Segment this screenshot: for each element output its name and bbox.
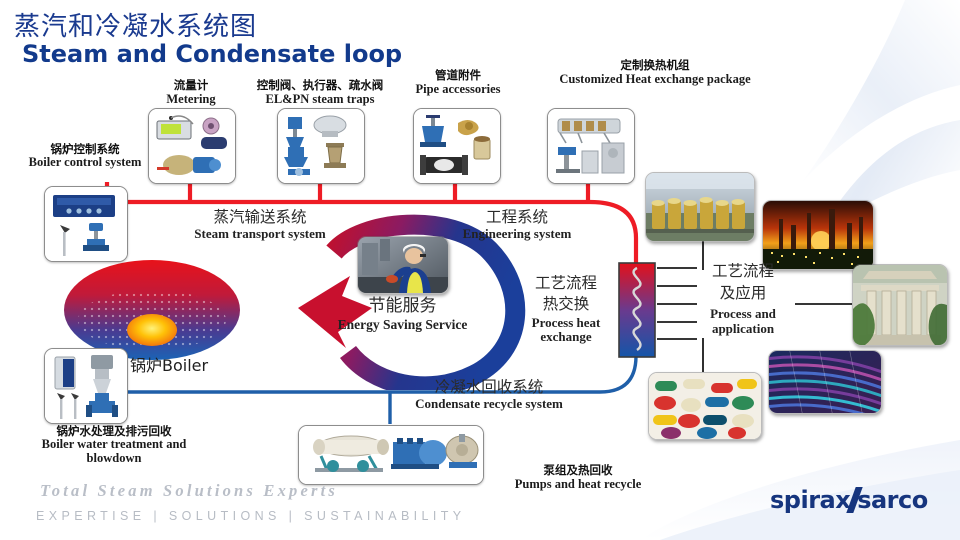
engineer-photo: [357, 236, 449, 294]
label-pumps-cn: 泵组及热回收: [488, 464, 668, 477]
label-heat-exchange-package-en: Customized Heat exchange package: [527, 72, 783, 86]
label-steam-traps-en: EL&PN steam traps: [239, 92, 401, 106]
thumb-metering[interactable]: [148, 108, 236, 184]
label-heat-exchange-package-cn: 定制换热机组: [527, 59, 783, 72]
thumb-boiler-water-treatment[interactable]: [44, 348, 128, 424]
thumb-pumps-heat-recycle[interactable]: [298, 425, 484, 485]
label-condensate-recycle-cn: 冷凝水回收系统: [399, 379, 579, 397]
photo-refinery[interactable]: [762, 200, 874, 270]
label-pipe-accessories-en: Pipe accessories: [396, 82, 520, 96]
label-pipe-accessories-cn: 管道附件: [396, 69, 520, 82]
thumb-boiler-control[interactable]: [44, 186, 128, 262]
boiler-graphic: [62, 258, 242, 362]
label-metering-cn: 流量计: [131, 79, 251, 92]
label-boiler-text: 锅炉Boiler: [130, 356, 208, 375]
label-engineering-system-en: Engineering system: [437, 227, 597, 242]
logo-word-sarco: sarco: [857, 486, 928, 514]
page-title-english: Steam and Condensate loop: [22, 40, 402, 68]
label-metering: 流量计 Metering: [131, 79, 251, 107]
label-heat-exchange-package: 定制换热机组 Customized Heat exchange package: [527, 59, 783, 87]
label-process-application-en-2: application: [688, 322, 798, 337]
thumb-heat-exchange-package[interactable]: [547, 108, 635, 184]
label-process-application: 工艺流程 及应用 Process and application: [688, 263, 798, 337]
label-pumps-en: Pumps and heat recycle: [488, 477, 668, 491]
label-condensate-recycle-en: Condensate recycle system: [399, 397, 579, 412]
label-energy-saving-cn: 节能服务: [310, 297, 495, 317]
label-steam-transport-cn: 蒸汽输送系统: [165, 209, 355, 227]
label-boiler-water-treatment: 锅炉水处理及排污回收 Boiler water treatment and bl…: [14, 425, 214, 466]
footer-pillars: EXPERTISE | SOLUTIONS | SUSTAINABILITY: [36, 509, 466, 523]
spirax-sarco-logo: spiraxsarco: [770, 486, 928, 514]
label-process-application-cn-1: 工艺流程: [688, 263, 798, 281]
label-process-application-cn-2: 及应用: [688, 285, 798, 303]
heat-exchanger-graphic: [618, 262, 656, 358]
footer-tagline: Total Steam Solutions Experts: [40, 481, 338, 501]
label-boiler-water-treatment-en: Boiler water treatment and blowdown: [14, 438, 214, 466]
label-process-heat-exchange-cn-1: 工艺流程: [515, 275, 617, 293]
photo-pharmaceutical[interactable]: [648, 372, 762, 440]
label-pumps: 泵组及热回收 Pumps and heat recycle: [488, 464, 668, 492]
thumb-steam-traps[interactable]: [277, 108, 365, 184]
page-title-chinese: 蒸汽和冷凝水系统图: [14, 6, 257, 43]
label-metering-en: Metering: [131, 92, 251, 106]
label-process-heat-exchange: 工艺流程 热交换 Process heat exchange: [515, 275, 617, 344]
label-engineering-system: 工程系统 Engineering system: [437, 209, 597, 242]
label-condensate-recycle: 冷凝水回收系统 Condensate recycle system: [399, 379, 579, 412]
label-steam-transport: 蒸汽输送系统 Steam transport system: [165, 209, 355, 242]
label-pipe-accessories: 管道附件 Pipe accessories: [396, 69, 520, 97]
label-process-application-en-1: Process and: [688, 307, 798, 322]
photo-building[interactable]: [852, 264, 948, 346]
label-process-heat-exchange-en: Process heat exchange: [515, 316, 617, 345]
label-boiler-control: 锅炉控制系统 Boiler control system: [16, 143, 154, 169]
thumb-pipe-accessories[interactable]: [413, 108, 501, 184]
logo-word-spirax: spirax: [770, 486, 850, 514]
label-energy-saving-en: Energy Saving Service: [310, 317, 495, 333]
photo-textile[interactable]: [768, 350, 882, 414]
label-process-heat-exchange-cn-2: 热交换: [515, 296, 617, 314]
label-steam-transport-en: Steam transport system: [165, 227, 355, 242]
label-energy-saving: 节能服务 Energy Saving Service: [310, 297, 495, 332]
slide-canvas: 蒸汽和冷凝水系统图 Steam and Condensate loop: [0, 0, 960, 540]
label-steam-traps-cn: 控制阀、执行器、疏水阀: [239, 79, 401, 92]
label-engineering-system-cn: 工程系统: [437, 209, 597, 227]
label-boiler: 锅炉Boiler: [130, 352, 208, 376]
label-boiler-control-en: Boiler control system: [16, 156, 154, 169]
label-steam-traps: 控制阀、执行器、疏水阀 EL&PN steam traps: [239, 79, 401, 107]
photo-canning-line[interactable]: [645, 172, 755, 242]
